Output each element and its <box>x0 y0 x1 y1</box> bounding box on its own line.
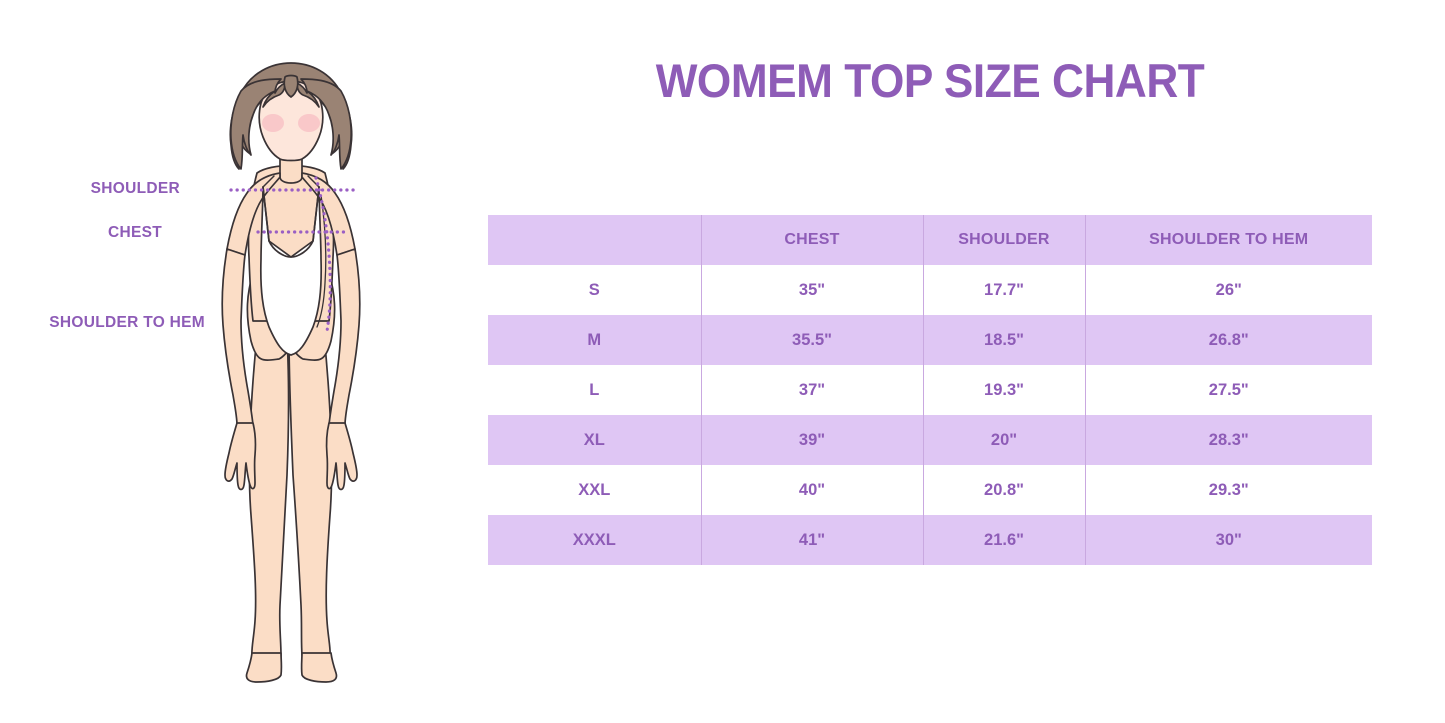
column-header-size <box>488 215 701 265</box>
cell-shoulder-to-hem: 30" <box>1085 515 1372 565</box>
cell-shoulder: 18.5" <box>923 315 1085 365</box>
table-row: XL 39" 20" 28.3" <box>488 415 1372 465</box>
table-row: XXXL 41" 21.6" 30" <box>488 515 1372 565</box>
cell-chest: 40" <box>701 465 923 515</box>
size-chart-table: CHEST SHOULDER SHOULDER TO HEM S 35" 17.… <box>488 215 1372 565</box>
cell-size: S <box>488 265 701 315</box>
cell-size: XXXL <box>488 515 701 565</box>
cell-size: XL <box>488 415 701 465</box>
left-leg <box>249 335 288 671</box>
cell-shoulder-to-hem: 29.3" <box>1085 465 1372 515</box>
column-header-shoulder-to-hem: SHOULDER TO HEM <box>1085 215 1372 265</box>
cell-shoulder: 20" <box>923 415 1085 465</box>
blush-left <box>262 114 284 132</box>
cell-shoulder-to-hem: 26" <box>1085 265 1372 315</box>
right-hand <box>327 423 357 490</box>
cell-size: M <box>488 315 701 365</box>
cell-chest: 37" <box>701 365 923 415</box>
table-header-row: CHEST SHOULDER SHOULDER TO HEM <box>488 215 1372 265</box>
cell-chest: 39" <box>701 415 923 465</box>
cell-shoulder: 19.3" <box>923 365 1085 415</box>
cell-size: L <box>488 365 701 415</box>
cell-shoulder: 21.6" <box>923 515 1085 565</box>
female-body-illustration <box>185 45 405 685</box>
left-arm <box>222 249 253 425</box>
cell-chest: 35.5" <box>701 315 923 365</box>
left-hand <box>225 423 255 490</box>
table-row: M 35.5" 18.5" 26.8" <box>488 315 1372 365</box>
table-row: XXL 40" 20.8" 29.3" <box>488 465 1372 515</box>
label-shoulder: SHOULDER <box>0 180 180 198</box>
cell-chest: 35" <box>701 265 923 315</box>
cell-size: XXL <box>488 465 701 515</box>
cell-shoulder: 20.8" <box>923 465 1085 515</box>
right-leg <box>289 335 332 671</box>
cell-shoulder-to-hem: 26.8" <box>1085 315 1372 365</box>
page-title: WOMEM TOP SIZE CHART <box>507 53 1353 108</box>
left-foot <box>246 653 281 682</box>
label-chest: CHEST <box>0 224 162 242</box>
column-header-shoulder: SHOULDER <box>923 215 1085 265</box>
cell-shoulder-to-hem: 28.3" <box>1085 415 1372 465</box>
column-header-chest: CHEST <box>701 215 923 265</box>
blush-right <box>298 114 320 132</box>
table-row: S 35" 17.7" 26" <box>488 265 1372 315</box>
table-row: L 37" 19.3" 27.5" <box>488 365 1372 415</box>
cell-shoulder: 17.7" <box>923 265 1085 315</box>
right-arm <box>329 249 360 425</box>
right-foot <box>302 653 337 682</box>
label-shoulder-to-hem: SHOULDER TO HEM <box>0 314 205 332</box>
cell-shoulder-to-hem: 27.5" <box>1085 365 1372 415</box>
cell-chest: 41" <box>701 515 923 565</box>
